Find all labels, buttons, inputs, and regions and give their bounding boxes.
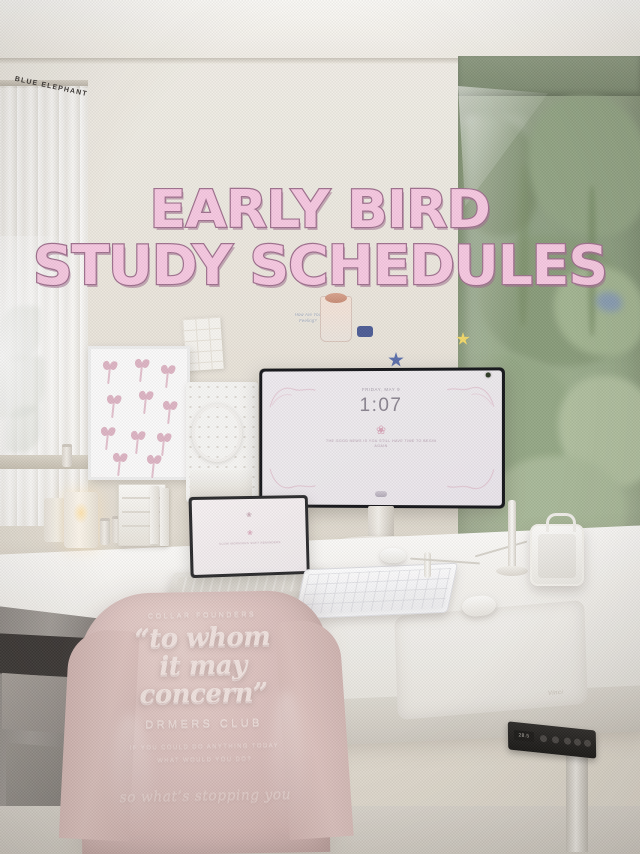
desk-down-button[interactable]	[552, 736, 559, 744]
desk-lamp-base	[496, 566, 528, 576]
perfume-bottle	[100, 518, 110, 545]
drink-sticker	[320, 296, 352, 342]
ceiling	[0, 0, 640, 64]
drink-sticker-top	[325, 293, 347, 303]
corner-flourish-icon	[443, 381, 496, 411]
sweatshirt-brand: COLLAR FOUNDERS	[78, 610, 326, 621]
pegboard-tray	[190, 470, 252, 498]
window-bottle	[62, 444, 72, 467]
laptop[interactable]: ❀ ❀ SLOW MORNINGS SOFT REMINDERS	[189, 495, 310, 578]
desk-height-display: 28.5	[514, 730, 534, 742]
tapestry-foliage	[528, 96, 640, 236]
desk-mat-logo: Vinci	[548, 690, 564, 697]
bow-ribbon-poster	[88, 346, 190, 480]
window-light	[0, 236, 72, 526]
portable-speaker[interactable]	[530, 524, 584, 586]
speaker-handle[interactable]	[546, 513, 576, 532]
desk-mat: Vinci	[394, 600, 588, 720]
candle-flame-icon	[73, 502, 89, 524]
pillar-candle	[64, 492, 98, 548]
earbuds-case[interactable]	[380, 548, 406, 563]
desk-up-button[interactable]	[540, 735, 547, 743]
webcam-icon	[486, 372, 491, 377]
pegboard-ring-shelf	[192, 404, 242, 462]
monitor-screen[interactable]: FRIDAY, MAY 9 1:07 ❀ THE GOOD NEWS IS YO…	[262, 370, 502, 505]
desk-preset-2-button[interactable]	[574, 738, 581, 746]
desk-lamp[interactable]	[508, 500, 516, 572]
corner-flourish-icon	[443, 465, 496, 495]
tapestry-water-accent	[596, 292, 622, 312]
screen-dock[interactable]	[375, 491, 387, 497]
tapestry-tree-trunk	[588, 186, 596, 336]
clear-acrylic-keyboard[interactable]	[294, 563, 458, 620]
speaker-grille	[538, 534, 576, 578]
window-sill	[0, 455, 96, 469]
laptop-screen[interactable]: ❀ ❀ SLOW MORNINGS SOFT REMINDERS	[192, 498, 307, 575]
badge-sticker	[357, 326, 373, 337]
screen-bow-icon: ❀	[262, 425, 502, 435]
screenshot-root: How Are You Feeling? FRIDAY, MAY 9 1:07 …	[0, 0, 640, 854]
white-binder	[160, 488, 169, 546]
monitor-stand-neck	[368, 506, 394, 540]
desk-memory-button[interactable]	[584, 739, 591, 747]
pink-chair-with-sweatshirt[interactable]: COLLAR FOUNDERS “to whom it may concern”…	[78, 590, 331, 854]
white-binder	[150, 486, 159, 544]
stylus-pen[interactable]	[424, 552, 431, 578]
corner-flourish-icon	[268, 465, 319, 495]
laptop-subtext: SLOW MORNINGS SOFT REMINDERS	[208, 540, 291, 546]
laptop-bow-icon: ❀	[192, 528, 305, 539]
laptop-logo: ❀	[192, 510, 305, 520]
desktop-monitor[interactable]: FRIDAY, MAY 9 1:07 ❀ THE GOOD NEWS IS YO…	[259, 367, 505, 508]
screen-quote: THE GOOD NEWS IS YOU STILL HAVE TIME TO …	[321, 439, 441, 449]
desk-preset-1-button[interactable]	[564, 737, 571, 745]
corner-flourish-icon	[268, 381, 319, 411]
